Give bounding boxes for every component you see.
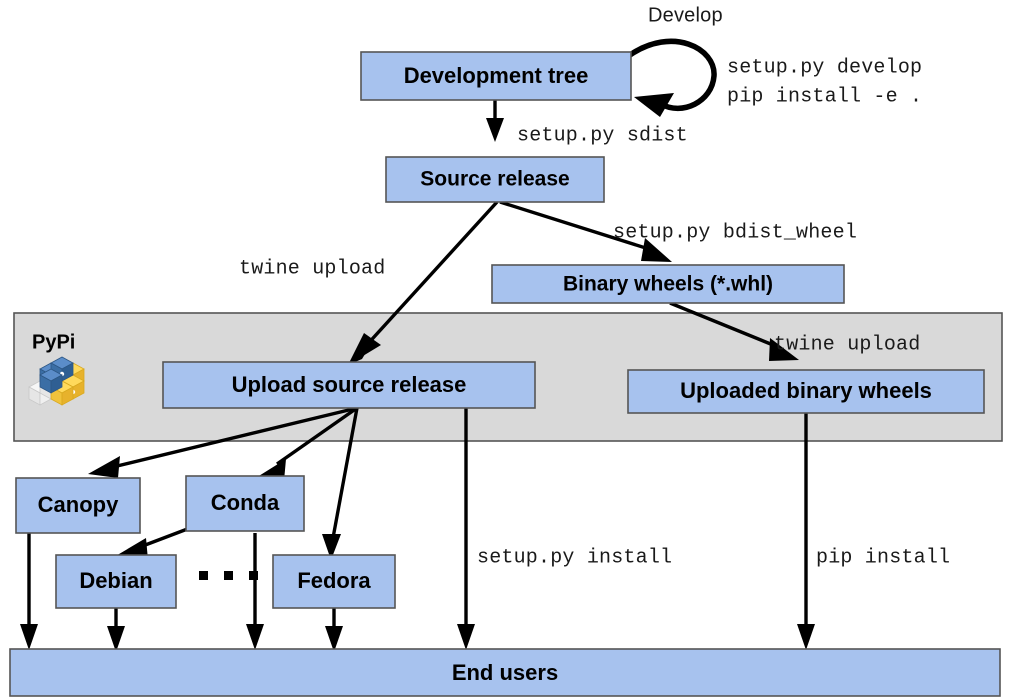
arrow-head-icon [457, 624, 475, 650]
edge-develop-self-loop [630, 41, 714, 117]
edge-label-pip-install-e: pip install -e . [727, 85, 922, 108]
node-debian[interactable]: Debian [56, 555, 176, 608]
arrow-head-icon [107, 626, 125, 652]
edge-label-setup-develop: setup.py develop [727, 56, 922, 79]
node-conda[interactable]: Conda [186, 476, 304, 531]
edge-label-setup-install: setup.py install [477, 546, 672, 569]
arrow-head-icon [20, 624, 38, 650]
ellipsis-dots [199, 571, 258, 580]
node-debian-label: Debian [79, 568, 152, 593]
edge-uploaded-binary-to-end-users [797, 413, 815, 650]
edge-label-twine-upload-left: twine upload [239, 257, 385, 280]
edge-fedora-to-end-users [325, 608, 343, 652]
edge-debian-to-end-users [107, 608, 125, 652]
edge-dev-to-source [486, 100, 504, 142]
edge-label-setup-bdist-wheel: setup.py bdist_wheel [613, 221, 857, 244]
edge-label-pip-install: pip install [816, 546, 950, 569]
node-binary-wheels[interactable]: Binary wheels (*.whl) [492, 265, 844, 303]
pypi-group-label: PyPi [32, 331, 75, 353]
arrow-head-icon [246, 624, 264, 650]
edge-label-setup-sdist: setup.py sdist [517, 124, 688, 147]
node-binary-wheels-label: Binary wheels (*.whl) [563, 273, 773, 296]
edge-upload-to-end-users [457, 408, 475, 650]
packaging-flow-diagram: PyPi [0, 0, 1009, 698]
arrow-head-icon [88, 456, 120, 478]
edge-label-twine-upload-right: twine upload [774, 333, 920, 356]
arrow-head-icon [325, 626, 343, 652]
node-conda-label: Conda [211, 490, 280, 515]
node-uploaded-binary-wheels-label: Uploaded binary wheels [680, 378, 932, 403]
edge-conda-to-end-users [246, 533, 264, 650]
edge-label-develop: Develop [648, 4, 723, 26]
node-canopy[interactable]: Canopy [16, 478, 140, 533]
node-fedora-label: Fedora [297, 568, 371, 593]
node-fedora[interactable]: Fedora [273, 555, 395, 608]
node-end-users-label: End users [452, 660, 558, 685]
node-development-tree[interactable]: Development tree [361, 52, 631, 100]
node-upload-source-release-label: Upload source release [232, 372, 467, 397]
node-end-users[interactable]: End users [10, 649, 1000, 696]
edge-canopy-to-end-users [20, 533, 38, 650]
node-source-release[interactable]: Source release [386, 157, 604, 202]
node-canopy-label: Canopy [38, 492, 119, 517]
node-development-tree-label: Development tree [404, 63, 589, 88]
arrow-head-icon [486, 118, 504, 142]
arrow-head-icon [797, 624, 815, 650]
node-upload-source-release[interactable]: Upload source release [163, 362, 535, 408]
node-uploaded-binary-wheels[interactable]: Uploaded binary wheels [628, 370, 984, 413]
node-source-release-label: Source release [420, 168, 569, 191]
flow-canvas: PyPi [0, 0, 1009, 698]
